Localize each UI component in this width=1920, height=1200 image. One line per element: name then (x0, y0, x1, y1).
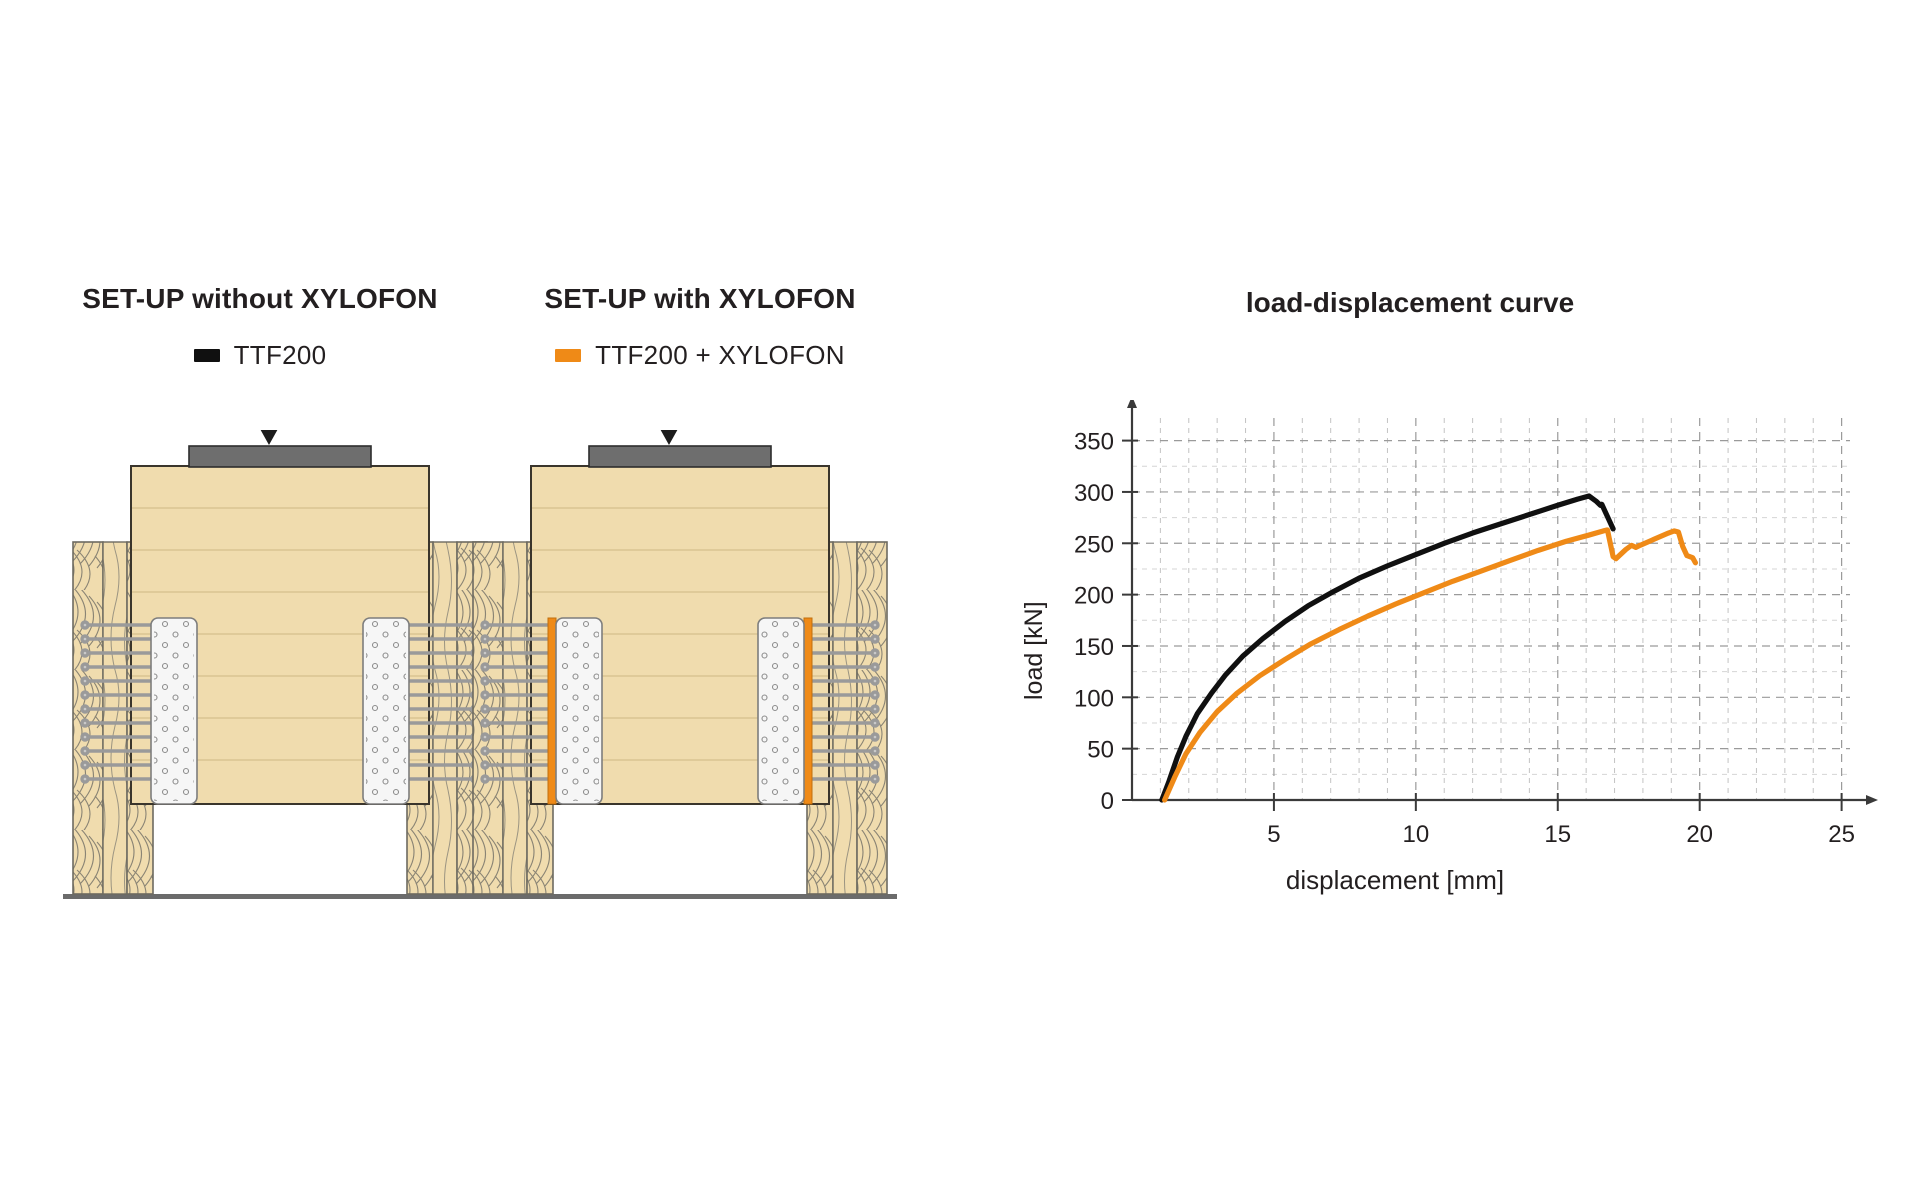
setup-title-without-xylofon: SET-UP without XYLOFON (10, 283, 510, 315)
svg-text:250: 250 (1074, 531, 1114, 558)
legend-with-xylofon: TTF200 + XYLOFON (440, 340, 960, 371)
svg-text:350: 350 (1074, 429, 1114, 456)
load-plate (589, 446, 771, 467)
x-tick-labels: 510152025 (1267, 821, 1855, 848)
setup-title-with-xylofon: SET-UP with XYLOFON (450, 283, 950, 315)
grid-minor (1132, 418, 1850, 800)
load-plate (189, 446, 371, 467)
y-tick-labels: 050100150200250300350 (1074, 429, 1114, 815)
svg-text:15: 15 (1544, 821, 1571, 848)
setup-drawing-without-xylofon: F (55, 430, 505, 910)
grid-major (1132, 418, 1850, 800)
force-arrow (659, 430, 679, 444)
svg-text:100: 100 (1074, 685, 1114, 712)
y-axis-label: load [kN] (1020, 601, 1049, 700)
xylofon-layer-right (804, 618, 812, 804)
force-arrow (259, 430, 279, 444)
xylofon-layer-left (548, 618, 556, 804)
svg-text:20: 20 (1686, 821, 1713, 848)
legend-swatch-black (194, 349, 220, 362)
chart-plot: 050100150200250300350 510152025 (1060, 400, 1890, 870)
axes (1127, 400, 1878, 805)
legend-label-ttf200-xylofon: TTF200 + XYLOFON (595, 340, 845, 371)
svg-text:150: 150 (1074, 634, 1114, 661)
setup-drawing-with-xylofon: F (455, 430, 905, 910)
svg-text:50: 50 (1087, 737, 1114, 764)
svg-text:25: 25 (1828, 821, 1855, 848)
setup-panel-with-xylofon: SET-UP with XYLOFON TTF200 + XYLOFON (440, 0, 960, 920)
steel-plate-left (556, 618, 602, 804)
svg-text:200: 200 (1074, 583, 1114, 610)
legend-swatch-orange (555, 349, 581, 362)
legend-label-ttf200: TTF200 (234, 340, 327, 371)
chart-panel: load-displacement curve load [kN] displa… (1000, 0, 1920, 940)
chart-title: load-displacement curve (1060, 287, 1760, 319)
axis-ticks (1122, 441, 1842, 811)
svg-text:10: 10 (1402, 821, 1429, 848)
svg-text:300: 300 (1074, 480, 1114, 507)
steel-plate-right (363, 618, 409, 804)
steel-plate-right (758, 618, 804, 804)
svg-text:0: 0 (1101, 788, 1114, 815)
steel-plate-left (151, 618, 197, 804)
data-series (1162, 496, 1696, 800)
svg-text:5: 5 (1267, 821, 1280, 848)
